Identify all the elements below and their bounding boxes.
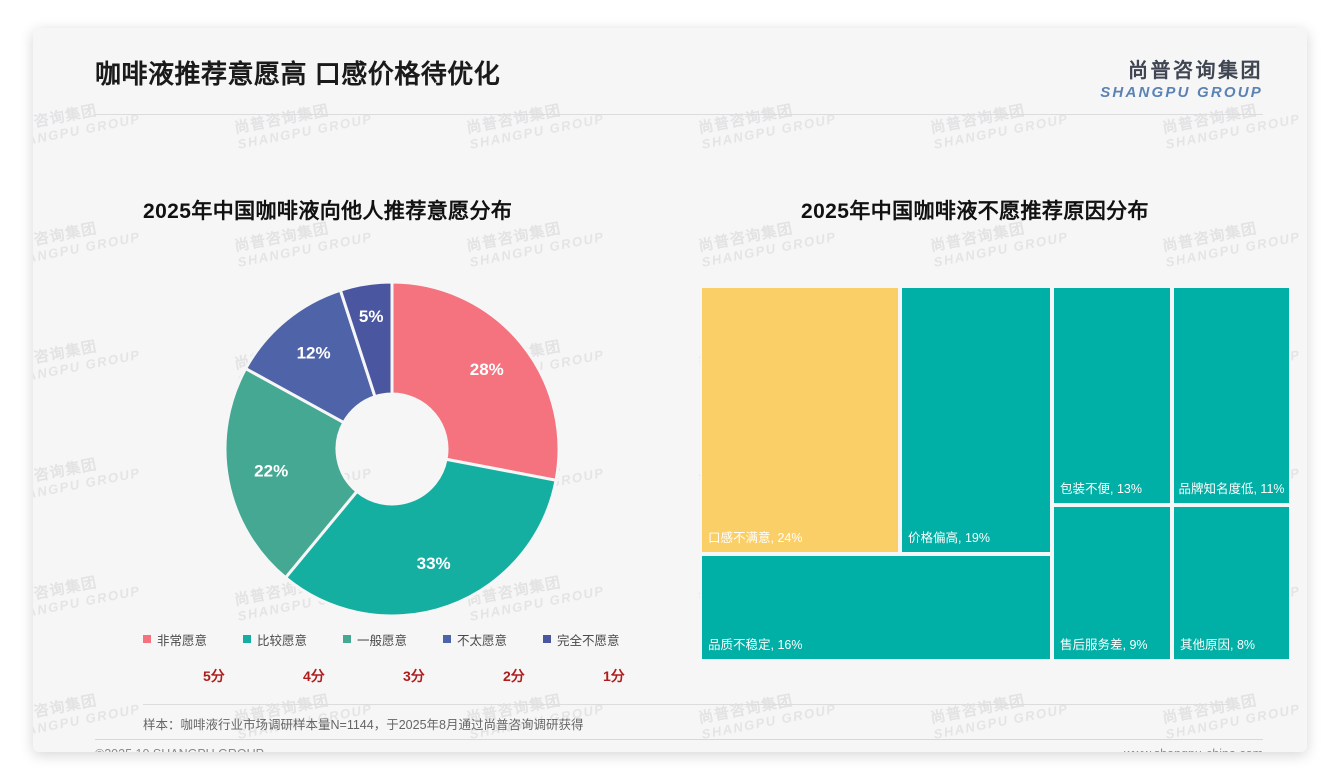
legend-label: 不太愿意: [457, 630, 507, 649]
donut-chart: 28%33%22%12%5%: [219, 276, 565, 622]
treemap-cell-6[interactable]: 售后服务差, 9%: [1052, 505, 1172, 661]
watermark-mark: 尚普咨询集团SHANGPU GROUP: [33, 331, 142, 388]
score-label-3: 3分: [343, 666, 443, 690]
donut-slice-label: 12%: [297, 344, 331, 363]
legend-swatch: [543, 635, 551, 643]
treemap-cell-4[interactable]: 包装不便, 13%: [1052, 286, 1172, 505]
treemap-cell-1[interactable]: 口感不满意, 24%: [700, 286, 900, 554]
legend-item-1[interactable]: 非常愿意: [143, 628, 243, 650]
watermark-mark: 尚普咨询集团SHANGPU GROUP: [33, 213, 142, 270]
donut-slice-label: 33%: [417, 554, 451, 573]
donut-chart-svg: 28%33%22%12%5%: [219, 276, 565, 622]
legend-swatch: [143, 635, 151, 643]
legend-label: 非常愿意: [157, 630, 207, 649]
score-label-5: 1分: [543, 666, 653, 690]
score-label-2: 4分: [243, 666, 343, 690]
donut-slice-label: 28%: [470, 360, 504, 379]
left-chart-title: 2025年中国咖啡液向他人推荐意愿分布: [143, 195, 512, 225]
note-divider: [143, 704, 1229, 705]
sample-note: 样本：咖啡液行业市场调研样本量N=1144，于2025年8月通过尚普咨询调研获得: [143, 714, 583, 733]
legend-item-5[interactable]: 完全不愿意: [543, 628, 653, 650]
legend-item-2[interactable]: 比较愿意: [243, 628, 343, 650]
treemap-cell-3[interactable]: 品质不稳定, 16%: [700, 554, 1052, 661]
website-link[interactable]: www.shangpu-china.com: [1124, 747, 1263, 752]
header-divider: [95, 114, 1263, 115]
watermark-mark: 尚普咨询集团SHANGPU GROUP: [1161, 685, 1302, 742]
treemap-cell-7[interactable]: 其他原因, 8%: [1172, 505, 1291, 661]
legend-swatch: [343, 635, 351, 643]
treemap-cell-label: 其他原因, 8%: [1180, 638, 1284, 654]
watermark-mark: 尚普咨询集团SHANGPU GROUP: [1161, 213, 1302, 270]
treemap-cell-label: 品牌知名度低, 11%: [1178, 482, 1285, 498]
donut-legend: 非常愿意比较愿意一般愿意不太愿意完全不愿意: [143, 628, 688, 650]
slide-header: 咖啡液推荐意愿高 口感价格待优化 尚普咨询集团 SHANGPU GROUP: [33, 28, 1307, 116]
treemap-cell-2[interactable]: 价格偏高, 19%: [900, 286, 1052, 554]
copyright-text: ©2025.10 SHANGPU GROUP: [95, 747, 264, 752]
page-title: 咖啡液推荐意愿高 口感价格待优化: [95, 54, 500, 91]
footer-divider: [95, 739, 1263, 740]
logo-text-cn: 尚普咨询集团: [1100, 54, 1263, 83]
brand-logo: 尚普咨询集团 SHANGPU GROUP: [1100, 54, 1263, 101]
treemap-cell-label: 包装不便, 13%: [1060, 482, 1165, 498]
score-label-4: 2分: [443, 666, 543, 690]
treemap-cell-label: 价格偏高, 19%: [908, 531, 1045, 547]
treemap-chart: 口感不满意, 24%价格偏高, 19%品质不稳定, 16%包装不便, 13%品牌…: [700, 286, 1291, 661]
legend-label: 比较愿意: [257, 630, 307, 649]
legend-swatch: [243, 635, 251, 643]
right-chart-title: 2025年中国咖啡液不愿推荐原因分布: [801, 195, 1149, 225]
slide-card: 尚普咨询集团SHANGPU GROUP尚普咨询集团SHANGPU GROUP尚普…: [33, 28, 1307, 752]
watermark-mark: 尚普咨询集团SHANGPU GROUP: [33, 449, 142, 506]
watermark-mark: 尚普咨询集团SHANGPU GROUP: [697, 685, 838, 742]
donut-slice-label: 22%: [254, 462, 288, 481]
donut-slice-label: 5%: [359, 307, 384, 326]
watermark-mark: 尚普咨询集团SHANGPU GROUP: [929, 685, 1070, 742]
treemap-cell-label: 品质不稳定, 16%: [708, 638, 1045, 654]
treemap-cell-label: 口感不满意, 24%: [708, 531, 893, 547]
score-label-1: 5分: [143, 666, 243, 690]
donut-score-row: 5分4分3分2分1分: [143, 666, 688, 690]
legend-item-3[interactable]: 一般愿意: [343, 628, 443, 650]
legend-item-4[interactable]: 不太愿意: [443, 628, 543, 650]
legend-swatch: [443, 635, 451, 643]
watermark-mark: 尚普咨询集团SHANGPU GROUP: [33, 685, 142, 742]
treemap-cell-label: 售后服务差, 9%: [1060, 638, 1165, 654]
logo-text-en: SHANGPU GROUP: [1100, 84, 1263, 101]
watermark-mark: 尚普咨询集团SHANGPU GROUP: [33, 567, 142, 624]
donut-slice-1[interactable]: [392, 282, 559, 480]
legend-label: 完全不愿意: [557, 630, 620, 649]
treemap-cell-5[interactable]: 品牌知名度低, 11%: [1172, 286, 1291, 505]
legend-label: 一般愿意: [357, 630, 407, 649]
